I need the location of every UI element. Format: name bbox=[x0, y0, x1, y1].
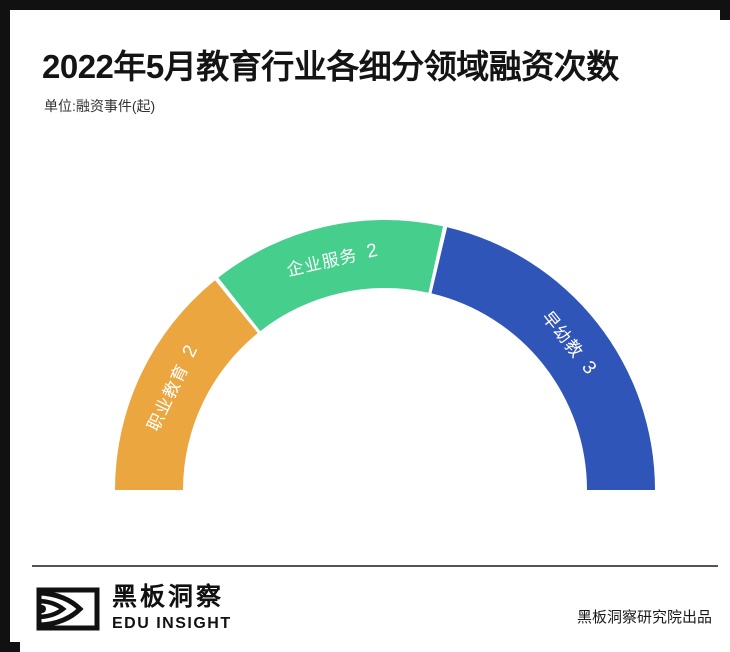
donut-slice[interactable] bbox=[218, 220, 443, 331]
brand-text: 黑板洞察 EDU INSIGHT bbox=[112, 585, 232, 632]
donut-slice[interactable] bbox=[432, 227, 655, 490]
footer-divider bbox=[32, 565, 718, 567]
brand-name-cn: 黑板洞察 bbox=[112, 585, 232, 610]
poster-canvas: 2022年5月教育行业各细分领域融资次数 单位:融资事件(起) 职业教育2企业服… bbox=[20, 20, 730, 652]
footer-credit: 黑板洞察研究院出品 bbox=[577, 606, 712, 627]
eye-in-rectangle-icon bbox=[36, 587, 100, 631]
poster-frame: 2022年5月教育行业各细分领域融资次数 单位:融资事件(起) 职业教育2企业服… bbox=[0, 0, 730, 652]
donut-slice[interactable] bbox=[115, 280, 258, 490]
donut-chart-svg: 职业教育2企业服务2早幼教3 bbox=[20, 20, 730, 580]
half-donut-chart: 职业教育2企业服务2早幼教3 bbox=[20, 20, 730, 580]
brand-name-en: EDU INSIGHT bbox=[112, 616, 232, 632]
brand-logo: 黑板洞察 EDU INSIGHT bbox=[36, 585, 232, 632]
